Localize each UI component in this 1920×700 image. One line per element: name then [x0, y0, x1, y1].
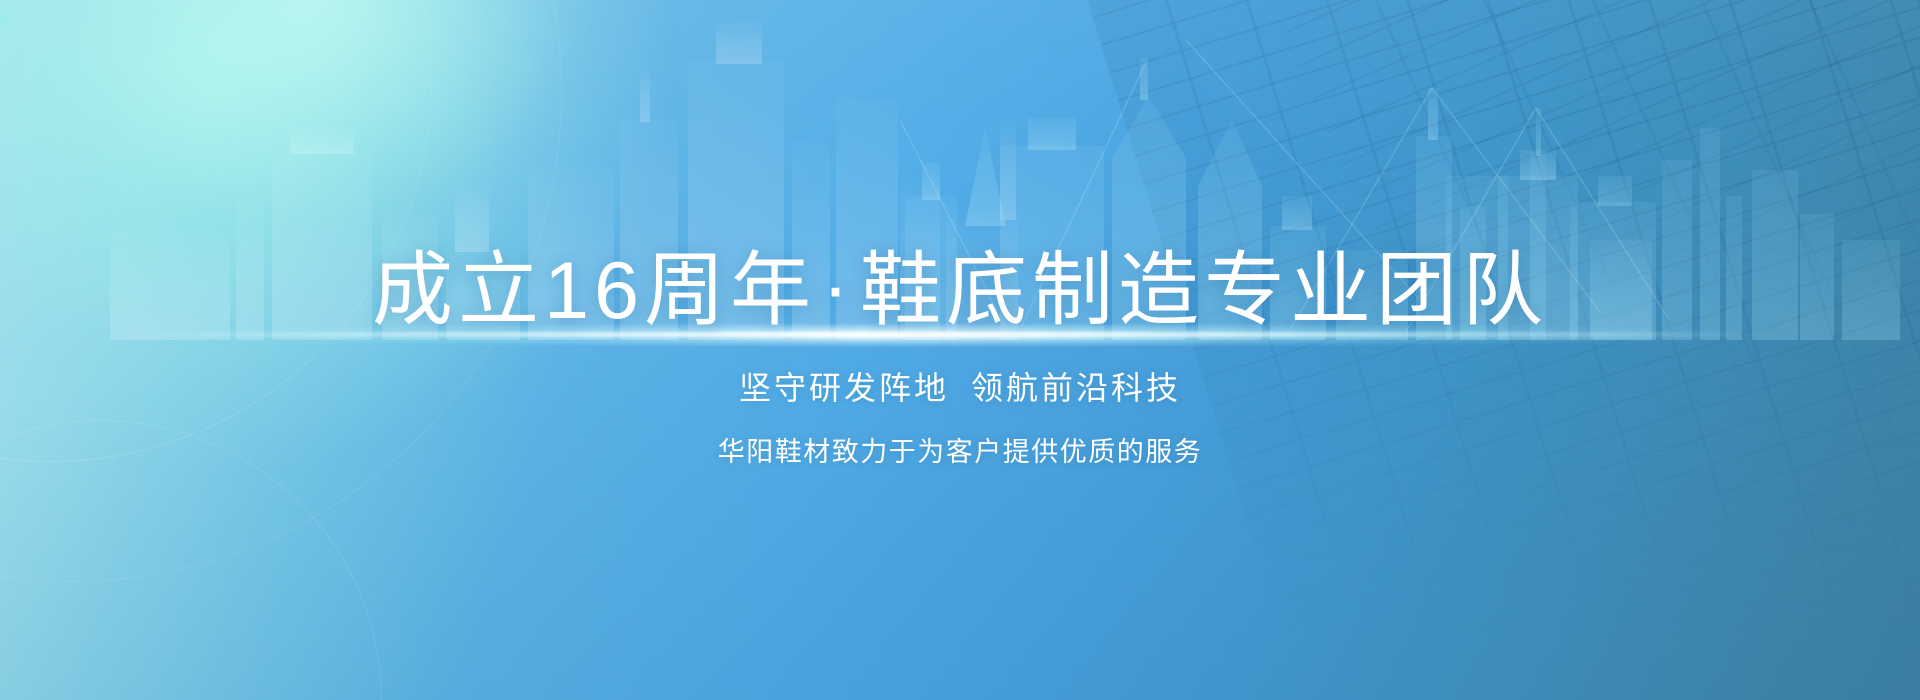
headline-suffix: 鞋底制造专业团队: [860, 246, 1548, 336]
headline-prefix: 成立16周年: [372, 246, 816, 336]
banner-subtitle-primary: 坚守研发阵地领航前沿科技: [0, 337, 1920, 409]
hero-banner: 成立16周年·鞋底制造专业团队 坚守研发阵地领航前沿科技 华阳鞋材致力于为客户提…: [0, 0, 1920, 700]
subtitle-right: 领航前沿科技: [971, 370, 1181, 406]
banner-content: 成立16周年·鞋底制造专业团队 坚守研发阵地领航前沿科技 华阳鞋材致力于为客户提…: [0, 0, 1920, 469]
subtitle-left: 坚守研发阵地: [739, 370, 949, 406]
banner-subtitle-secondary: 华阳鞋材致力于为客户提供优质的服务: [0, 409, 1920, 469]
decor-arc-icon: [0, 470, 452, 700]
banner-headline: 成立16周年·鞋底制造专业团队: [0, 0, 1920, 337]
headline-separator: ·: [816, 242, 860, 333]
